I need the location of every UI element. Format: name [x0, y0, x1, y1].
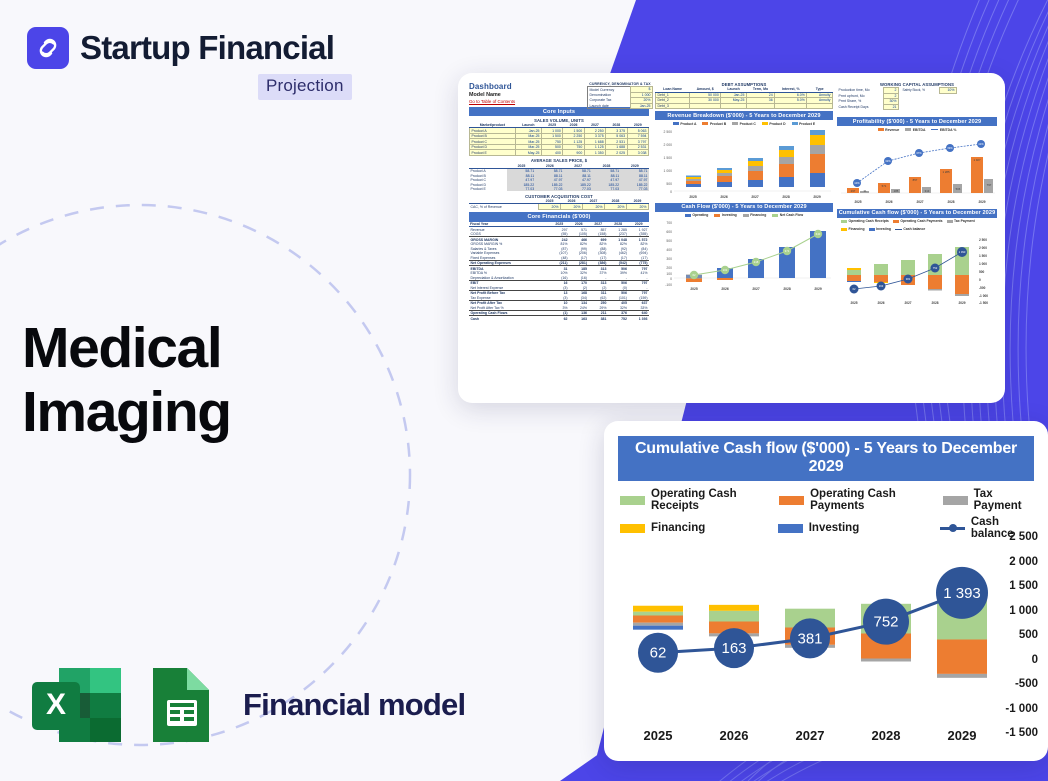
- svg-text:2026: 2026: [721, 287, 729, 291]
- svg-text:797: 797: [987, 183, 992, 187]
- cac-table: 2025 2026 2027 2028 2029 CAC, % of Reven…: [469, 199, 649, 210]
- svg-text:218: 218: [754, 260, 759, 264]
- x-tick-label: 2025: [620, 728, 696, 743]
- svg-text:300: 300: [666, 257, 672, 261]
- currency-panel: CURRENCY, DENOMINATOR & TAX Model Curren…: [587, 82, 653, 109]
- cumulative-cash-flow-chart-mini: Operating Cash Receipts Operating Cash P…: [837, 219, 997, 307]
- legend-item-tax-payment: Tax Payment: [943, 488, 1032, 512]
- svg-text:37%: 37%: [916, 151, 922, 155]
- svg-text:1 000: 1 000: [664, 169, 673, 173]
- svg-text:2025: 2025: [850, 301, 857, 305]
- legend-label: Investing: [809, 522, 859, 534]
- legend-label: Operating Cash Payments: [810, 488, 943, 512]
- data-label: 752: [873, 614, 898, 631]
- page-title-line1: Medical: [22, 316, 231, 380]
- svg-text:1 500: 1 500: [664, 156, 673, 160]
- currency-caption: CURRENCY, DENOMINATOR & TAX: [587, 82, 653, 86]
- core-financials-bar: Core Financials ($'000): [469, 212, 649, 221]
- svg-text:2027: 2027: [752, 287, 760, 291]
- dashboard-content: Dashboard Model Name Go to Table of Cont…: [469, 82, 994, 394]
- bar-segment-tax-payment: [861, 658, 911, 661]
- debt-assumptions-table: Loan Name Amount, $ Launch Term, Mo Inte…: [655, 87, 833, 109]
- svg-text:2 000: 2 000: [664, 143, 673, 147]
- svg-text:2027: 2027: [916, 200, 923, 204]
- svg-text:2026: 2026: [720, 195, 728, 199]
- page-title: Medical Imaging: [22, 316, 231, 445]
- cell-value: 381: [588, 316, 607, 321]
- x-tick-label: 2027: [772, 728, 848, 743]
- y-tick-label: -1 500: [1005, 727, 1038, 739]
- chart-plot-area: 621633817521 393: [620, 543, 1000, 723]
- svg-text:500: 500: [979, 270, 985, 274]
- legend-item: EBITDA %: [931, 128, 956, 132]
- legend-item: EBITDA: [905, 128, 925, 132]
- y-tick-label: 500: [1019, 629, 1038, 641]
- cash-flow-title: Cash Flow ($'000) - 5 Years to December …: [655, 203, 833, 212]
- table-row: Safety Stock, % 10%: [901, 88, 957, 94]
- svg-text:-100: -100: [665, 283, 672, 287]
- chart-title: Cumulative Cash flow ($'000) - 5 Years t…: [618, 436, 1034, 481]
- x-axis-labels: 20252026202720282029: [620, 728, 1000, 743]
- table-row: Product E 77.03 77.03 77.03 77.03 77.03: [469, 187, 649, 192]
- svg-text:-1 000: -1 000: [979, 294, 988, 298]
- svg-text:X: X: [46, 688, 66, 721]
- svg-text:32%: 32%: [885, 159, 891, 163]
- dashboard-right-block: WORKING CAPITAL ASSUMPTIONS Production t…: [837, 82, 997, 307]
- row-label: Cash: [469, 316, 550, 321]
- svg-text:31: 31: [863, 189, 867, 193]
- safety-stock-table: Safety Stock, % 10%: [901, 87, 957, 94]
- table-row: CAC, % of Revenue 20% 20% 20% 20% 20%: [469, 204, 649, 210]
- svg-text:381: 381: [906, 277, 911, 281]
- dashboard-middle-block: DEBT ASSUMPTIONS Loan Name Amount, $ Lau…: [655, 82, 833, 293]
- bar-segment-operating-cash-receipts: [709, 611, 759, 622]
- legend-item: Cash balance: [895, 227, 925, 231]
- legend-label: Operating Cash Receipts: [651, 488, 779, 512]
- cell-value: 752: [608, 316, 629, 321]
- svg-text:2029: 2029: [814, 287, 822, 291]
- legend-item: Operating: [685, 213, 709, 217]
- table-row: Cash Receipt Days 21: [837, 104, 899, 110]
- chart-legend: Revenue EBITDA EBITDA %: [837, 128, 997, 132]
- chart-legend: Product A Product B Product C Product D …: [655, 122, 833, 126]
- profitability-title: Profitability ($'000) - 5 Years to Decem…: [837, 117, 997, 126]
- legend-item: Financing: [743, 213, 767, 217]
- format-label: Financial model: [243, 687, 465, 723]
- svg-text:200: 200: [666, 266, 672, 270]
- svg-text:2029: 2029: [978, 200, 985, 204]
- legend-row: Operating Cash Receipts Operating Cash P…: [620, 488, 1032, 512]
- chart-legend: Operating Cash Receipts Operating Cash P…: [620, 488, 1032, 540]
- svg-text:640: 640: [816, 232, 821, 236]
- svg-text:571: 571: [882, 184, 887, 188]
- x-tick-label: 2026: [696, 728, 772, 743]
- legend-item: Product D: [762, 122, 786, 126]
- avg-price-table: 2025 2026 2027 2028 2029 Product A 58.71…: [469, 163, 649, 191]
- svg-text:1 500: 1 500: [979, 254, 987, 258]
- legend-item: Investing: [714, 213, 736, 217]
- dashboard-screenshot-card[interactable]: Dashboard Model Name Go to Table of Cont…: [458, 73, 1005, 403]
- svg-text:752: 752: [933, 266, 938, 270]
- left-panel: Startup Financial Projection Medical Ima…: [0, 0, 470, 781]
- legend-label: Tax Payment: [974, 488, 1032, 512]
- brand-logo: Startup Financial: [27, 27, 334, 69]
- x-tick-label: 2029: [924, 728, 1000, 743]
- svg-text:400: 400: [666, 248, 672, 252]
- legend-item: Investing: [869, 227, 891, 231]
- y-tick-label: 1 000: [1009, 605, 1038, 617]
- table-row: Debt_3: [656, 103, 833, 109]
- svg-text:2025: 2025: [854, 200, 861, 204]
- bar-segment-tax-payment: [633, 623, 683, 626]
- profitability-plot: 10%32%37% 39%41% 29731 571185 857313 1 2…: [837, 133, 997, 207]
- x-tick-label: 2028: [848, 728, 924, 743]
- cell-value: 163: [569, 316, 588, 321]
- svg-text:2 000: 2 000: [979, 246, 987, 250]
- svg-text:39%: 39%: [947, 146, 953, 150]
- svg-text:1 285: 1 285: [943, 170, 950, 174]
- svg-text:600: 600: [666, 230, 672, 234]
- svg-text:2 500: 2 500: [979, 238, 987, 242]
- svg-text:2029: 2029: [958, 301, 965, 305]
- svg-text:62: 62: [853, 287, 856, 291]
- brand-name: Startup Financial: [80, 29, 334, 67]
- y-tick-label: 0: [1032, 654, 1038, 666]
- svg-text:163: 163: [879, 284, 884, 288]
- legend-item: Product C: [732, 122, 756, 126]
- table-row: Product E May-25 400 900 1 350 2 025 3 0…: [470, 150, 649, 156]
- revenue-breakdown-plot: 2 5002 000 1 5001 000 5000: [655, 127, 833, 201]
- table-row: Variable Expenses(107)(206)(308)(462)(69…: [469, 251, 649, 256]
- svg-text:2028: 2028: [931, 301, 938, 305]
- e-loop-icon: [27, 27, 69, 69]
- bar-segment-financing: [709, 605, 759, 611]
- data-label: 1 393: [943, 585, 981, 602]
- working-capital-table: Production time, Mo 2 Prmt upfront, Mo 2…: [837, 87, 899, 110]
- legend-row: Financing Investing Cash balance: [620, 516, 1032, 540]
- sales-volume-table: Market/product Launch 2025 2026 2027 202…: [469, 123, 649, 156]
- svg-text:62: 62: [692, 273, 696, 277]
- svg-text:0: 0: [670, 277, 672, 281]
- legend-item-financing: Financing: [620, 516, 778, 540]
- legend-item: Operating Cash Receipts: [841, 219, 889, 223]
- svg-text:2025: 2025: [689, 195, 697, 199]
- legend-item: Product B: [702, 122, 726, 126]
- legend-item: Product A: [673, 122, 697, 126]
- legend-item-operating-cash-payments: Operating Cash Payments: [779, 488, 943, 512]
- y-tick-label: -500: [1015, 678, 1038, 690]
- table-row: Cash621633817521 393: [469, 316, 649, 321]
- svg-text:500: 500: [666, 239, 672, 243]
- svg-text:2029: 2029: [813, 195, 821, 199]
- legend-item: Revenue: [878, 128, 900, 132]
- cumulative-cash-flow-plot-mini: 2 5002 0001 500 1 0005000 -500-1 000-1 5…: [837, 232, 997, 306]
- svg-text:500: 500: [666, 182, 672, 186]
- legend-item: Product E: [792, 122, 816, 126]
- svg-text:857: 857: [913, 178, 918, 182]
- svg-text:313: 313: [925, 189, 930, 193]
- svg-text:297: 297: [851, 189, 856, 193]
- table-row: Net Operating Expenses(211)(281)(386)(54…: [469, 260, 649, 266]
- data-label: 381: [797, 630, 822, 647]
- microsoft-excel-icon: X: [28, 664, 125, 746]
- working-capital-panel: Production time, Mo 2 Prmt upfront, Mo 2…: [837, 87, 997, 110]
- svg-text:2026: 2026: [885, 200, 892, 204]
- dashboard-left-block: Dashboard Model Name Go to Table of Cont…: [469, 82, 649, 321]
- svg-text:371: 371: [785, 249, 790, 253]
- y-tick-label: -1 000: [1005, 703, 1038, 715]
- profitability-chart: Revenue EBITDA EBITDA %: [837, 128, 997, 208]
- legend-item-investing: Investing: [778, 516, 940, 540]
- revenue-breakdown-chart: Product A Product B Product C Product D …: [655, 122, 833, 202]
- format-badges: X Financial model: [28, 664, 465, 746]
- currency-table: Model Currency $ Denomination 1 000 Corp…: [587, 86, 653, 109]
- legend-item-operating-cash-receipts: Operating Cash Receipts: [620, 488, 779, 512]
- data-label: 163: [721, 640, 746, 657]
- y-tick-label: 1 500: [1009, 580, 1038, 592]
- svg-text:-500: -500: [979, 286, 986, 290]
- svg-text:41%: 41%: [978, 142, 984, 146]
- bar-segment-investing: [633, 626, 683, 630]
- svg-text:2027: 2027: [904, 301, 911, 305]
- svg-text:2028: 2028: [782, 195, 790, 199]
- legend-item: Tax Payment: [947, 219, 975, 223]
- legend-item: Net Cash Flow: [772, 213, 803, 217]
- bar-segment-operating-cash-payments: [633, 616, 683, 623]
- cumulative-cash-flow-title-mini: Cumulative Cash flow ($'000) - 5 Years t…: [837, 209, 997, 218]
- svg-text:1 927: 1 927: [974, 158, 981, 162]
- svg-text:-1 500: -1 500: [979, 301, 988, 305]
- svg-text:2 500: 2 500: [664, 130, 673, 134]
- svg-text:101: 101: [723, 268, 728, 272]
- svg-text:700: 700: [666, 221, 672, 225]
- svg-text:1 000: 1 000: [979, 262, 987, 266]
- google-sheets-icon: [143, 664, 219, 746]
- svg-text:2025: 2025: [690, 287, 698, 291]
- cell-value: 1 393: [628, 316, 649, 321]
- y-tick-label: 2 000: [1009, 556, 1038, 568]
- core-financials-table: Fiscal Year 2025 2026 2027 2028 2029 Rev…: [469, 222, 649, 321]
- table-row: Launch date Jan-25: [588, 103, 653, 109]
- svg-text:185: 185: [894, 189, 899, 193]
- svg-text:2028: 2028: [947, 200, 954, 204]
- revenue-breakdown-title: Revenue Breakdown ($'000) - 5 Years to D…: [655, 111, 833, 120]
- e-loop-glyph-icon: [35, 35, 61, 61]
- svg-text:100: 100: [666, 272, 672, 276]
- brand-tagline: Projection: [258, 74, 352, 100]
- svg-text:506: 506: [956, 187, 961, 191]
- legend-item: Operating Cash Payments: [893, 219, 943, 223]
- bar-segment-financing: [633, 606, 683, 612]
- svg-text:2028: 2028: [783, 287, 791, 291]
- svg-text:0: 0: [670, 190, 672, 194]
- legend-label: Financing: [651, 522, 705, 534]
- page-title-line2: Imaging: [22, 380, 231, 444]
- svg-text:0: 0: [979, 278, 981, 282]
- cumulative-cash-flow-card[interactable]: Cumulative Cash flow ($'000) - 5 Years t…: [604, 421, 1048, 761]
- bar-segment-operating-cash-payments: [937, 640, 987, 674]
- y-tick-label: 2 500: [1009, 531, 1038, 543]
- data-label: 62: [650, 645, 667, 662]
- svg-text:10%: 10%: [854, 181, 860, 185]
- chart-legend: Operating Cash Receipts Operating Cash P…: [837, 219, 997, 231]
- cell-value: 62: [550, 316, 569, 321]
- bar-segment-tax-payment: [937, 674, 987, 678]
- svg-text:2026: 2026: [877, 301, 884, 305]
- chart-legend: Operating Investing Financing Net Cash F…: [655, 213, 833, 217]
- svg-text:2027: 2027: [751, 195, 759, 199]
- svg-text:1 393: 1 393: [959, 250, 966, 254]
- cash-flow-plot: 700600500 400300200 1000-100: [655, 218, 833, 292]
- cash-flow-chart: Operating Investing Financing Net Cash F…: [655, 213, 833, 293]
- bar-segment-operating-cash-receipts: [633, 612, 683, 616]
- legend-item: Financing: [841, 227, 865, 231]
